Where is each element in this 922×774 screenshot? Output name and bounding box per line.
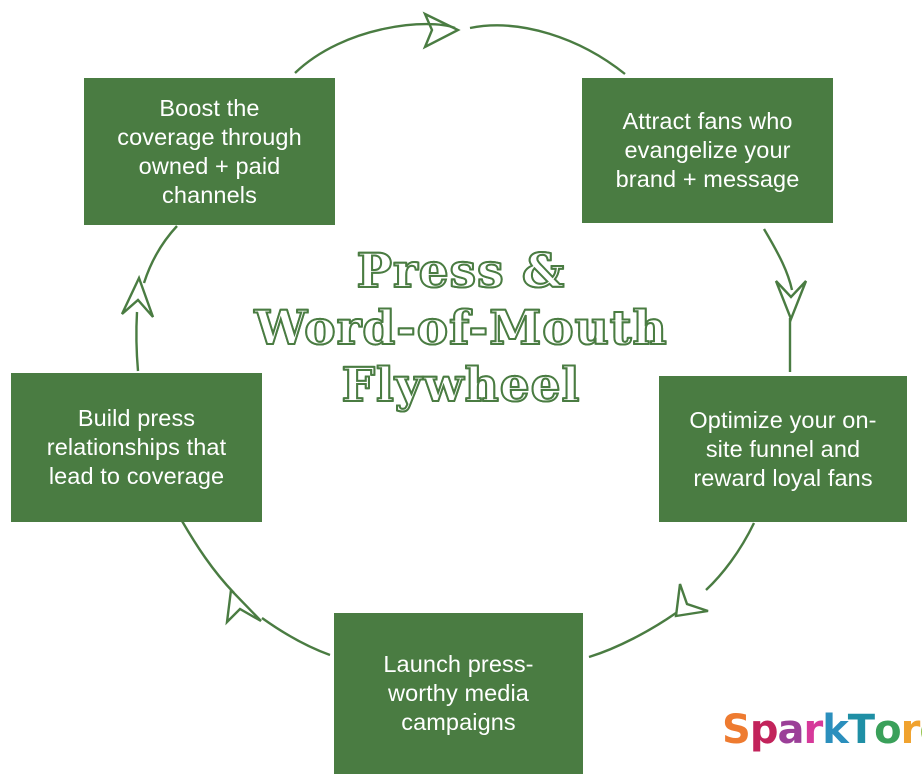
sparktoro-logo: SparkToro <box>722 707 922 753</box>
logo-letter-3: r <box>803 707 822 753</box>
node-launch-label: Launch press- worthy media campaigns <box>383 650 533 737</box>
arrow-head-bottom-left <box>227 590 261 622</box>
node-optimize[interactable]: Optimize your on- site funnel and reward… <box>659 376 907 522</box>
node-boost[interactable]: Boost the coverage through owned + paid … <box>84 78 335 225</box>
diagram-title: Press & Word-of-Mouth Flywheel <box>231 243 691 414</box>
arc-left-lower <box>136 312 138 371</box>
arrow-head-top <box>425 14 458 47</box>
arrow-head-left <box>122 278 153 317</box>
arc-bottom-left-upper <box>182 521 234 593</box>
logo-letter-7: r <box>901 707 920 753</box>
node-optimize-label: Optimize your on- site funnel and reward… <box>689 406 876 493</box>
node-build[interactable]: Build press relationships that lead to c… <box>11 373 262 522</box>
logo-letter-0: S <box>722 707 750 753</box>
flywheel-diagram: Boost the coverage through owned + paid … <box>0 0 922 774</box>
arc-top-right-segment <box>470 25 625 74</box>
arc-bottom-left-lower <box>262 618 330 655</box>
logo-letter-2: a <box>777 707 803 753</box>
logo-letter-6: o <box>874 707 900 753</box>
node-build-label: Build press relationships that lead to c… <box>47 404 226 491</box>
logo-letter-1: p <box>750 707 778 753</box>
logo-letter-4: k <box>822 707 848 753</box>
arc-right-upper <box>764 229 792 290</box>
arc-bottom-right-lower <box>589 613 676 657</box>
arrow-head-bottom-right <box>676 584 708 616</box>
node-attract-label: Attract fans who evangelize your brand +… <box>616 107 800 194</box>
node-boost-label: Boost the coverage through owned + paid … <box>117 94 302 210</box>
logo-letter-5: T <box>848 707 874 753</box>
arc-left-upper <box>144 226 177 283</box>
arc-bottom-right-upper <box>706 523 754 590</box>
node-launch[interactable]: Launch press- worthy media campaigns <box>334 613 583 774</box>
node-attract[interactable]: Attract fans who evangelize your brand +… <box>582 78 833 223</box>
